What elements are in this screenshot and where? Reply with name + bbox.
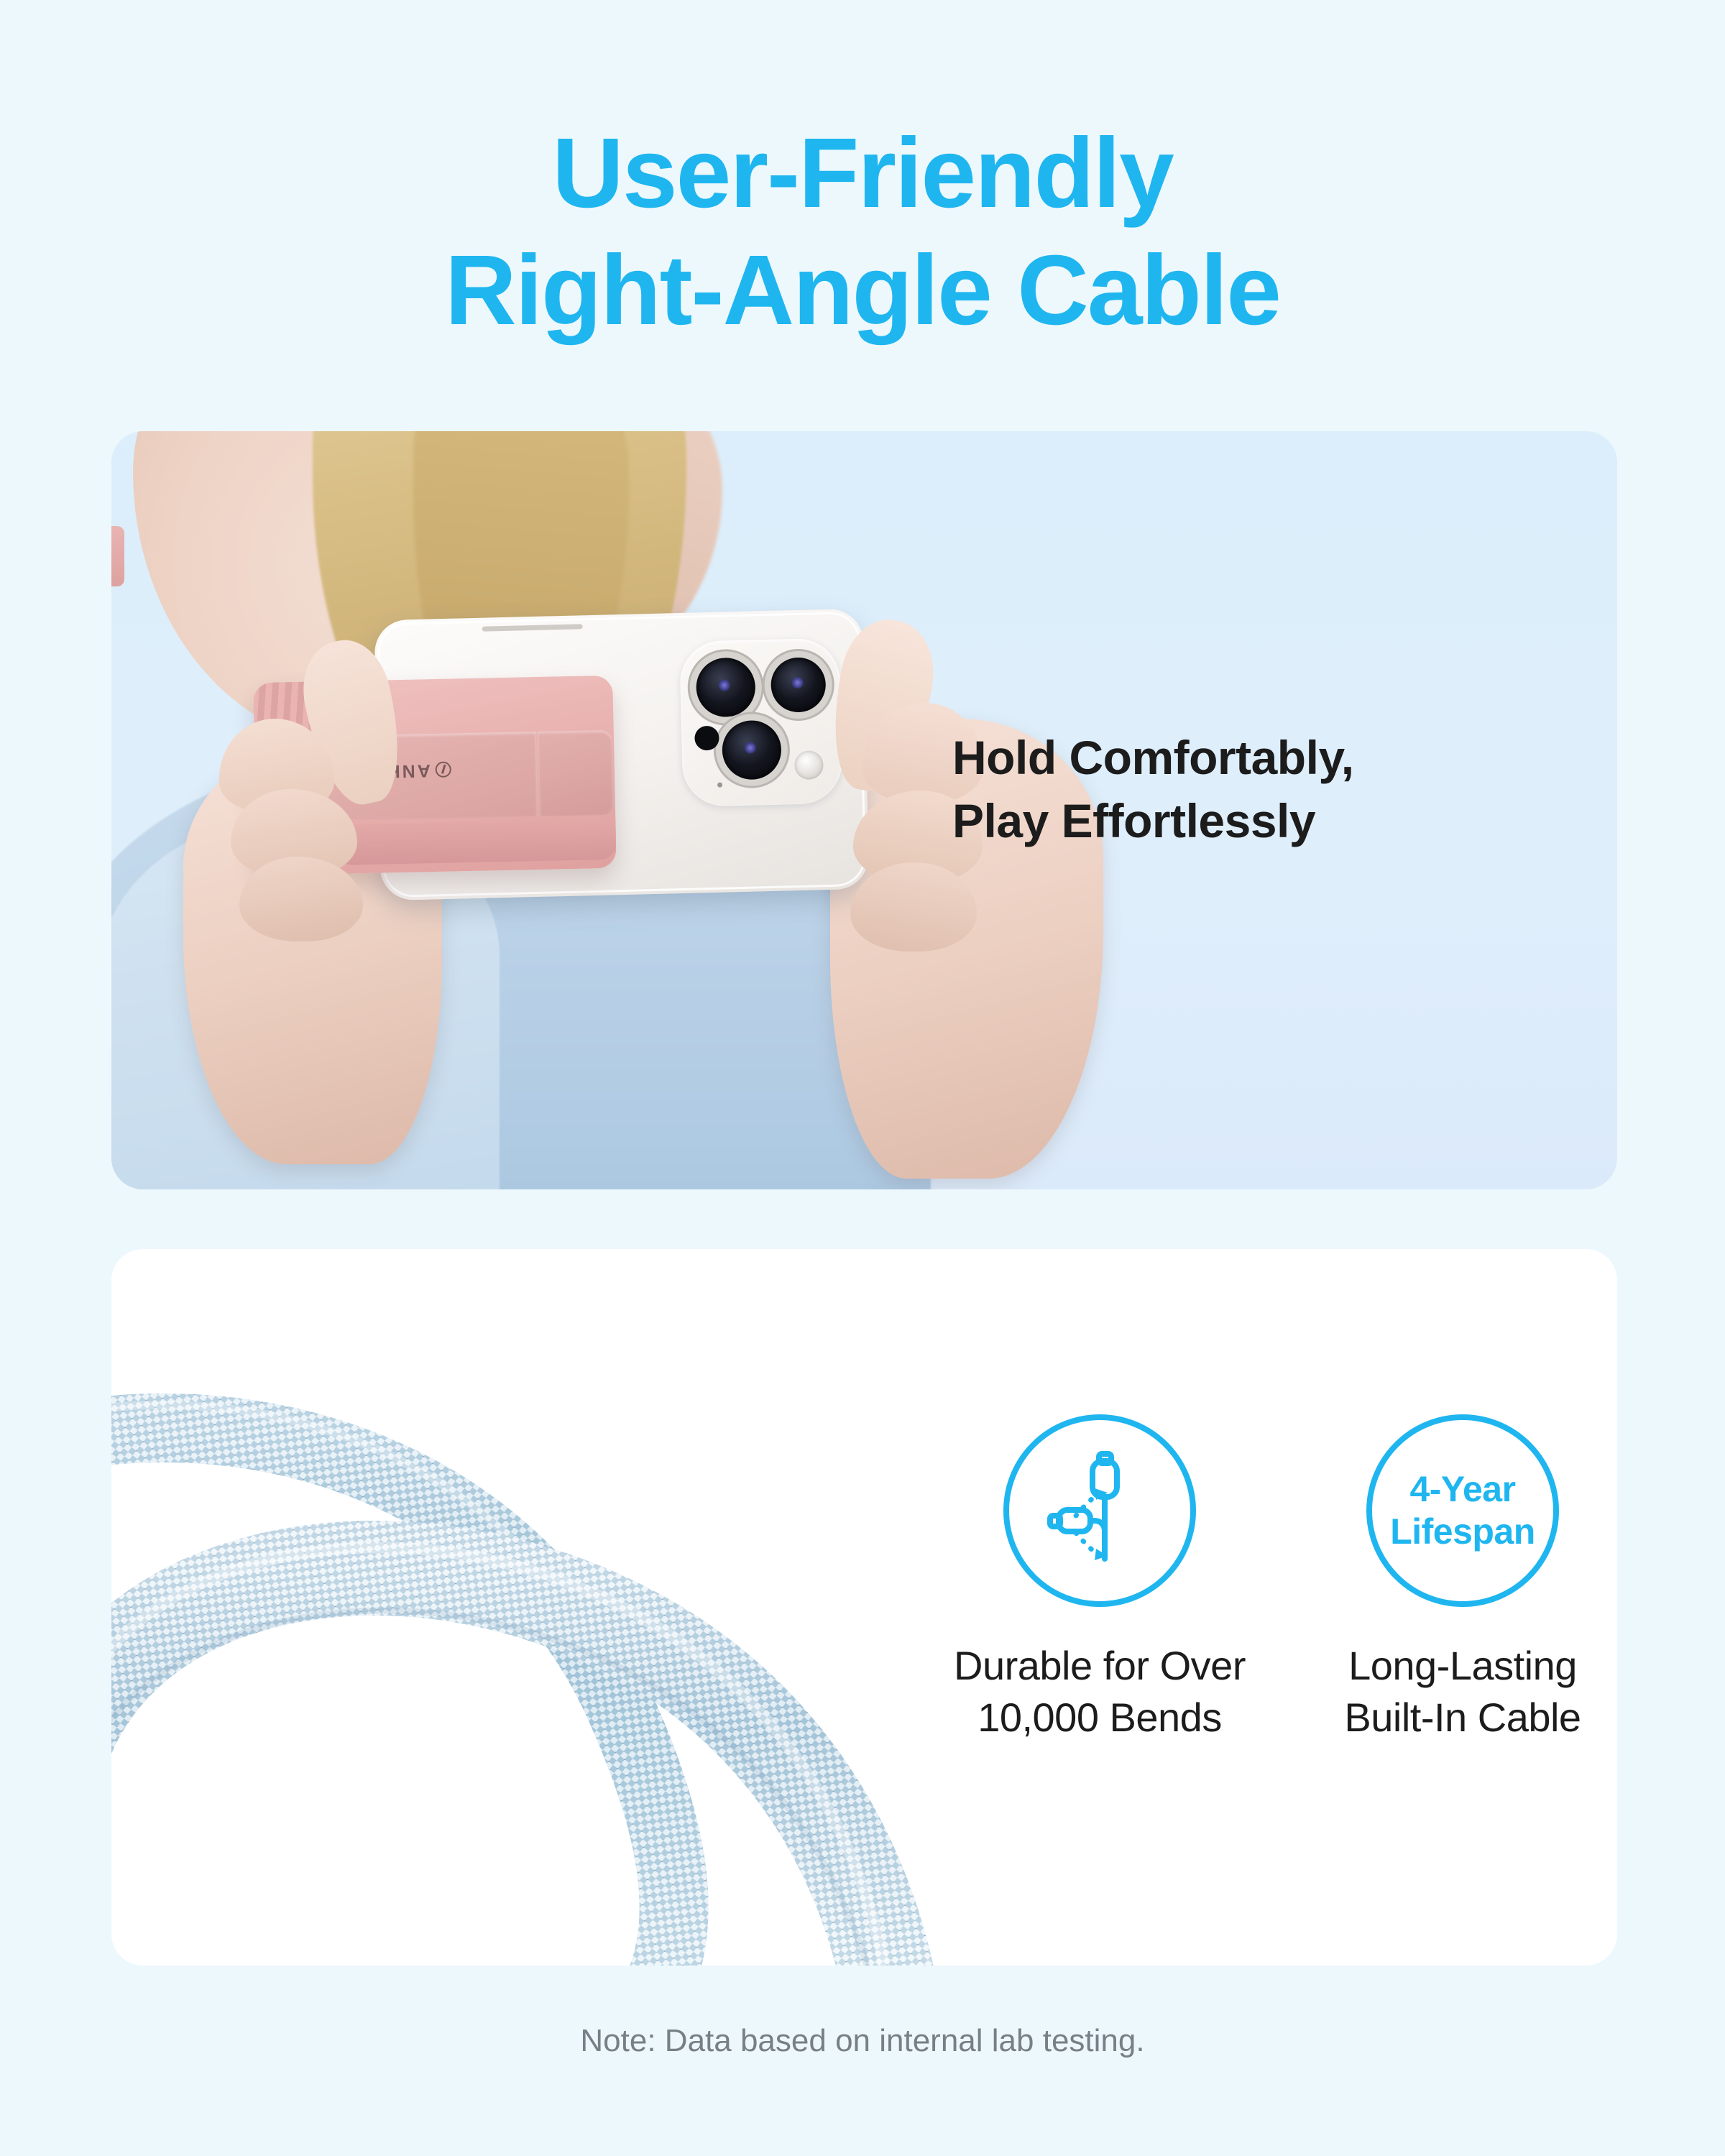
lifespan-badge-line-2: Lifespan [1390, 1511, 1535, 1553]
lifespan-badge-line-1: 4-Year [1390, 1468, 1535, 1511]
feature-bends-caption-line-2: 10,000 Bends [938, 1692, 1261, 1743]
feature-lifespan-caption: Long-Lasting Built-In Cable [1312, 1640, 1614, 1743]
feature-lifespan-caption-line-1: Long-Lasting [1312, 1640, 1614, 1692]
cable-feature-panel: Durable for Over 10,000 Bends 4-Year Lif… [111, 1249, 1617, 1966]
feature-lifespan-caption-line-2: Built-In Cable [1312, 1692, 1614, 1743]
hero-copy-line-2: Play Effortlessly [952, 789, 1556, 852]
product-feature-page: User-Friendly Right-Angle Cable [0, 0, 1725, 2156]
footnote: Note: Data based on internal lab testing… [0, 2023, 1725, 2059]
power-bank-stand-plate-right [538, 730, 614, 816]
flash-icon [794, 750, 824, 780]
feature-bends-caption: Durable for Over 10,000 Bends [938, 1640, 1261, 1743]
feature-list: Durable for Over 10,000 Bends 4-Year Lif… [938, 1414, 1614, 1743]
hero-copy: Hold Comfortably, Play Effortlessly [952, 726, 1556, 853]
right-angle-cable-bend-icon [1039, 1450, 1161, 1572]
hero-copy-line-1: Hold Comfortably, [952, 726, 1556, 789]
power-bank-lower-body [335, 819, 616, 865]
lidar-sensor-icon [694, 726, 719, 751]
built-in-cable-stub [111, 526, 124, 586]
feature-bends: Durable for Over 10,000 Bends [938, 1414, 1261, 1743]
headline-line-2: Right-Angle Cable [0, 232, 1725, 349]
lifespan-badge: 4-Year Lifespan [1366, 1414, 1559, 1607]
camera-island [679, 638, 843, 807]
page-title: User-Friendly Right-Angle Cable [0, 115, 1725, 349]
camera-lens-tele [770, 657, 827, 713]
feature-bends-caption-line-1: Durable for Over [938, 1640, 1261, 1692]
anker-mark-icon [436, 762, 451, 778]
camera-lens-wide [696, 657, 756, 717]
braided-cable-photo [111, 1249, 938, 1966]
microphone-icon [717, 783, 722, 788]
bend-badge [1003, 1414, 1196, 1607]
headline-line-1: User-Friendly [552, 118, 1173, 229]
camera-lens-ultrawide [722, 720, 782, 780]
lifespan-badge-text: 4-Year Lifespan [1390, 1468, 1535, 1553]
feature-lifespan: 4-Year Lifespan Long-Lasting Built-In Ca… [1312, 1414, 1614, 1743]
